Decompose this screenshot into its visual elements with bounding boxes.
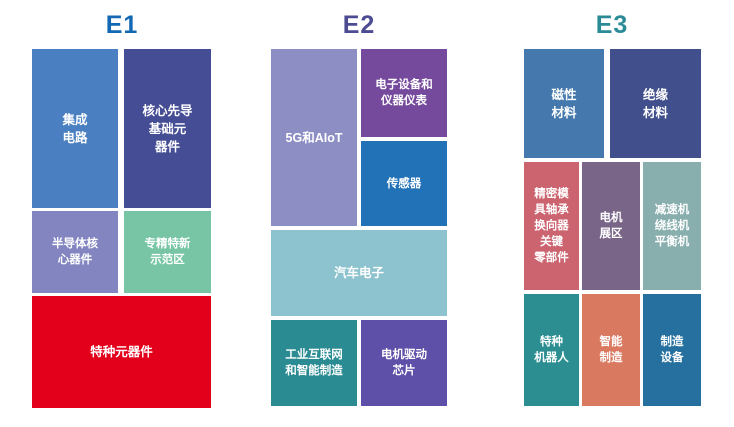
- zone-cell-dianzi-shebei-yiqi[interactable]: 电子设备和 仪器仪表: [361, 49, 447, 137]
- zone-cell-label: 核心先导 基础元 器件: [142, 102, 192, 156]
- zone-cell-dianji-zhanqu[interactable]: 电机 展区: [582, 162, 640, 290]
- zone-cell-label: 减速机 绕线机 平衡机: [655, 202, 690, 250]
- zone-cell-label: 汽车电子: [334, 264, 384, 282]
- zone-cell-label: 工业互联网 和智能制造: [285, 347, 343, 379]
- zone-cell-jueyuan-cailiao[interactable]: 绝缘 材料: [610, 49, 701, 158]
- zone-cell-zhineng-zhizao[interactable]: 智能 制造: [582, 294, 640, 406]
- zone-cell-cixing-cailiao[interactable]: 磁性 材料: [524, 49, 604, 158]
- zone-cell-tezhong-jiqiren[interactable]: 特种 机器人: [524, 294, 579, 406]
- zone-cell-jiansuji-raoxianji[interactable]: 减速机 绕线机 平衡机: [643, 162, 701, 290]
- zone-cell-zhuanjing-texin[interactable]: 专精特新 示范区: [124, 211, 211, 293]
- zone-cell-label: 绝缘 材料: [643, 86, 668, 122]
- zone-cell-label: 专精特新 示范区: [145, 236, 191, 268]
- zone-cell-label: 磁性 材料: [551, 86, 576, 122]
- zone-cell-label: 精密模 具轴承 换向器 关键 零部件: [534, 186, 569, 266]
- zone-cell-label: 特种元器件: [90, 343, 153, 361]
- zone-cell-label: 智能 制造: [600, 334, 623, 366]
- zone-cell-bandaoti-hexin-qijian[interactable]: 半导体核 心器件: [32, 211, 118, 293]
- zone-cell-gongye-hulianwang[interactable]: 工业互联网 和智能制造: [271, 320, 357, 406]
- zone-cell-jicheng-dianlu[interactable]: 集成 电路: [32, 49, 118, 208]
- zone-cell-tezhong-yuanqijian[interactable]: 特种元器件: [32, 296, 211, 408]
- zone-cell-label: 传感器: [387, 176, 422, 192]
- zone-cell-5g-aiot[interactable]: 5G和AIoT: [271, 49, 357, 226]
- zone-cell-label: 半导体核 心器件: [52, 236, 98, 268]
- zone-title-e1: E1: [78, 10, 166, 40]
- zone-cell-label: 电子设备和 仪器仪表: [375, 77, 433, 109]
- zone-cell-label: 特种 机器人: [534, 334, 569, 366]
- zone-cell-chuanganqi[interactable]: 传感器: [361, 141, 447, 226]
- zone-cell-jingmi-mojuzhoucheng[interactable]: 精密模 具轴承 换向器 关键 零部件: [524, 162, 579, 290]
- zone-cell-label: 电机 展区: [600, 210, 623, 242]
- zone-cell-zhizao-shebei[interactable]: 制造 设备: [643, 294, 701, 406]
- zone-cell-qiche-dianzi[interactable]: 汽车电子: [271, 230, 447, 316]
- zone-cell-hexin-xiandao-jichu[interactable]: 核心先导 基础元 器件: [124, 49, 211, 208]
- zone-cell-dianji-qudong-xinpian[interactable]: 电机驱动 芯片: [361, 320, 447, 406]
- zone-cell-label: 5G和AIoT: [286, 129, 343, 147]
- zone-title-e3: E3: [568, 10, 656, 40]
- zone-title-e2: E2: [315, 10, 403, 40]
- zone-cell-label: 制造 设备: [661, 334, 684, 366]
- exhibition-zone-map: E1集成 电路核心先导 基础元 器件半导体核 心器件专精特新 示范区特种元器件E…: [0, 0, 734, 427]
- zone-cell-label: 电机驱动 芯片: [381, 347, 427, 379]
- zone-cell-label: 集成 电路: [62, 111, 87, 147]
